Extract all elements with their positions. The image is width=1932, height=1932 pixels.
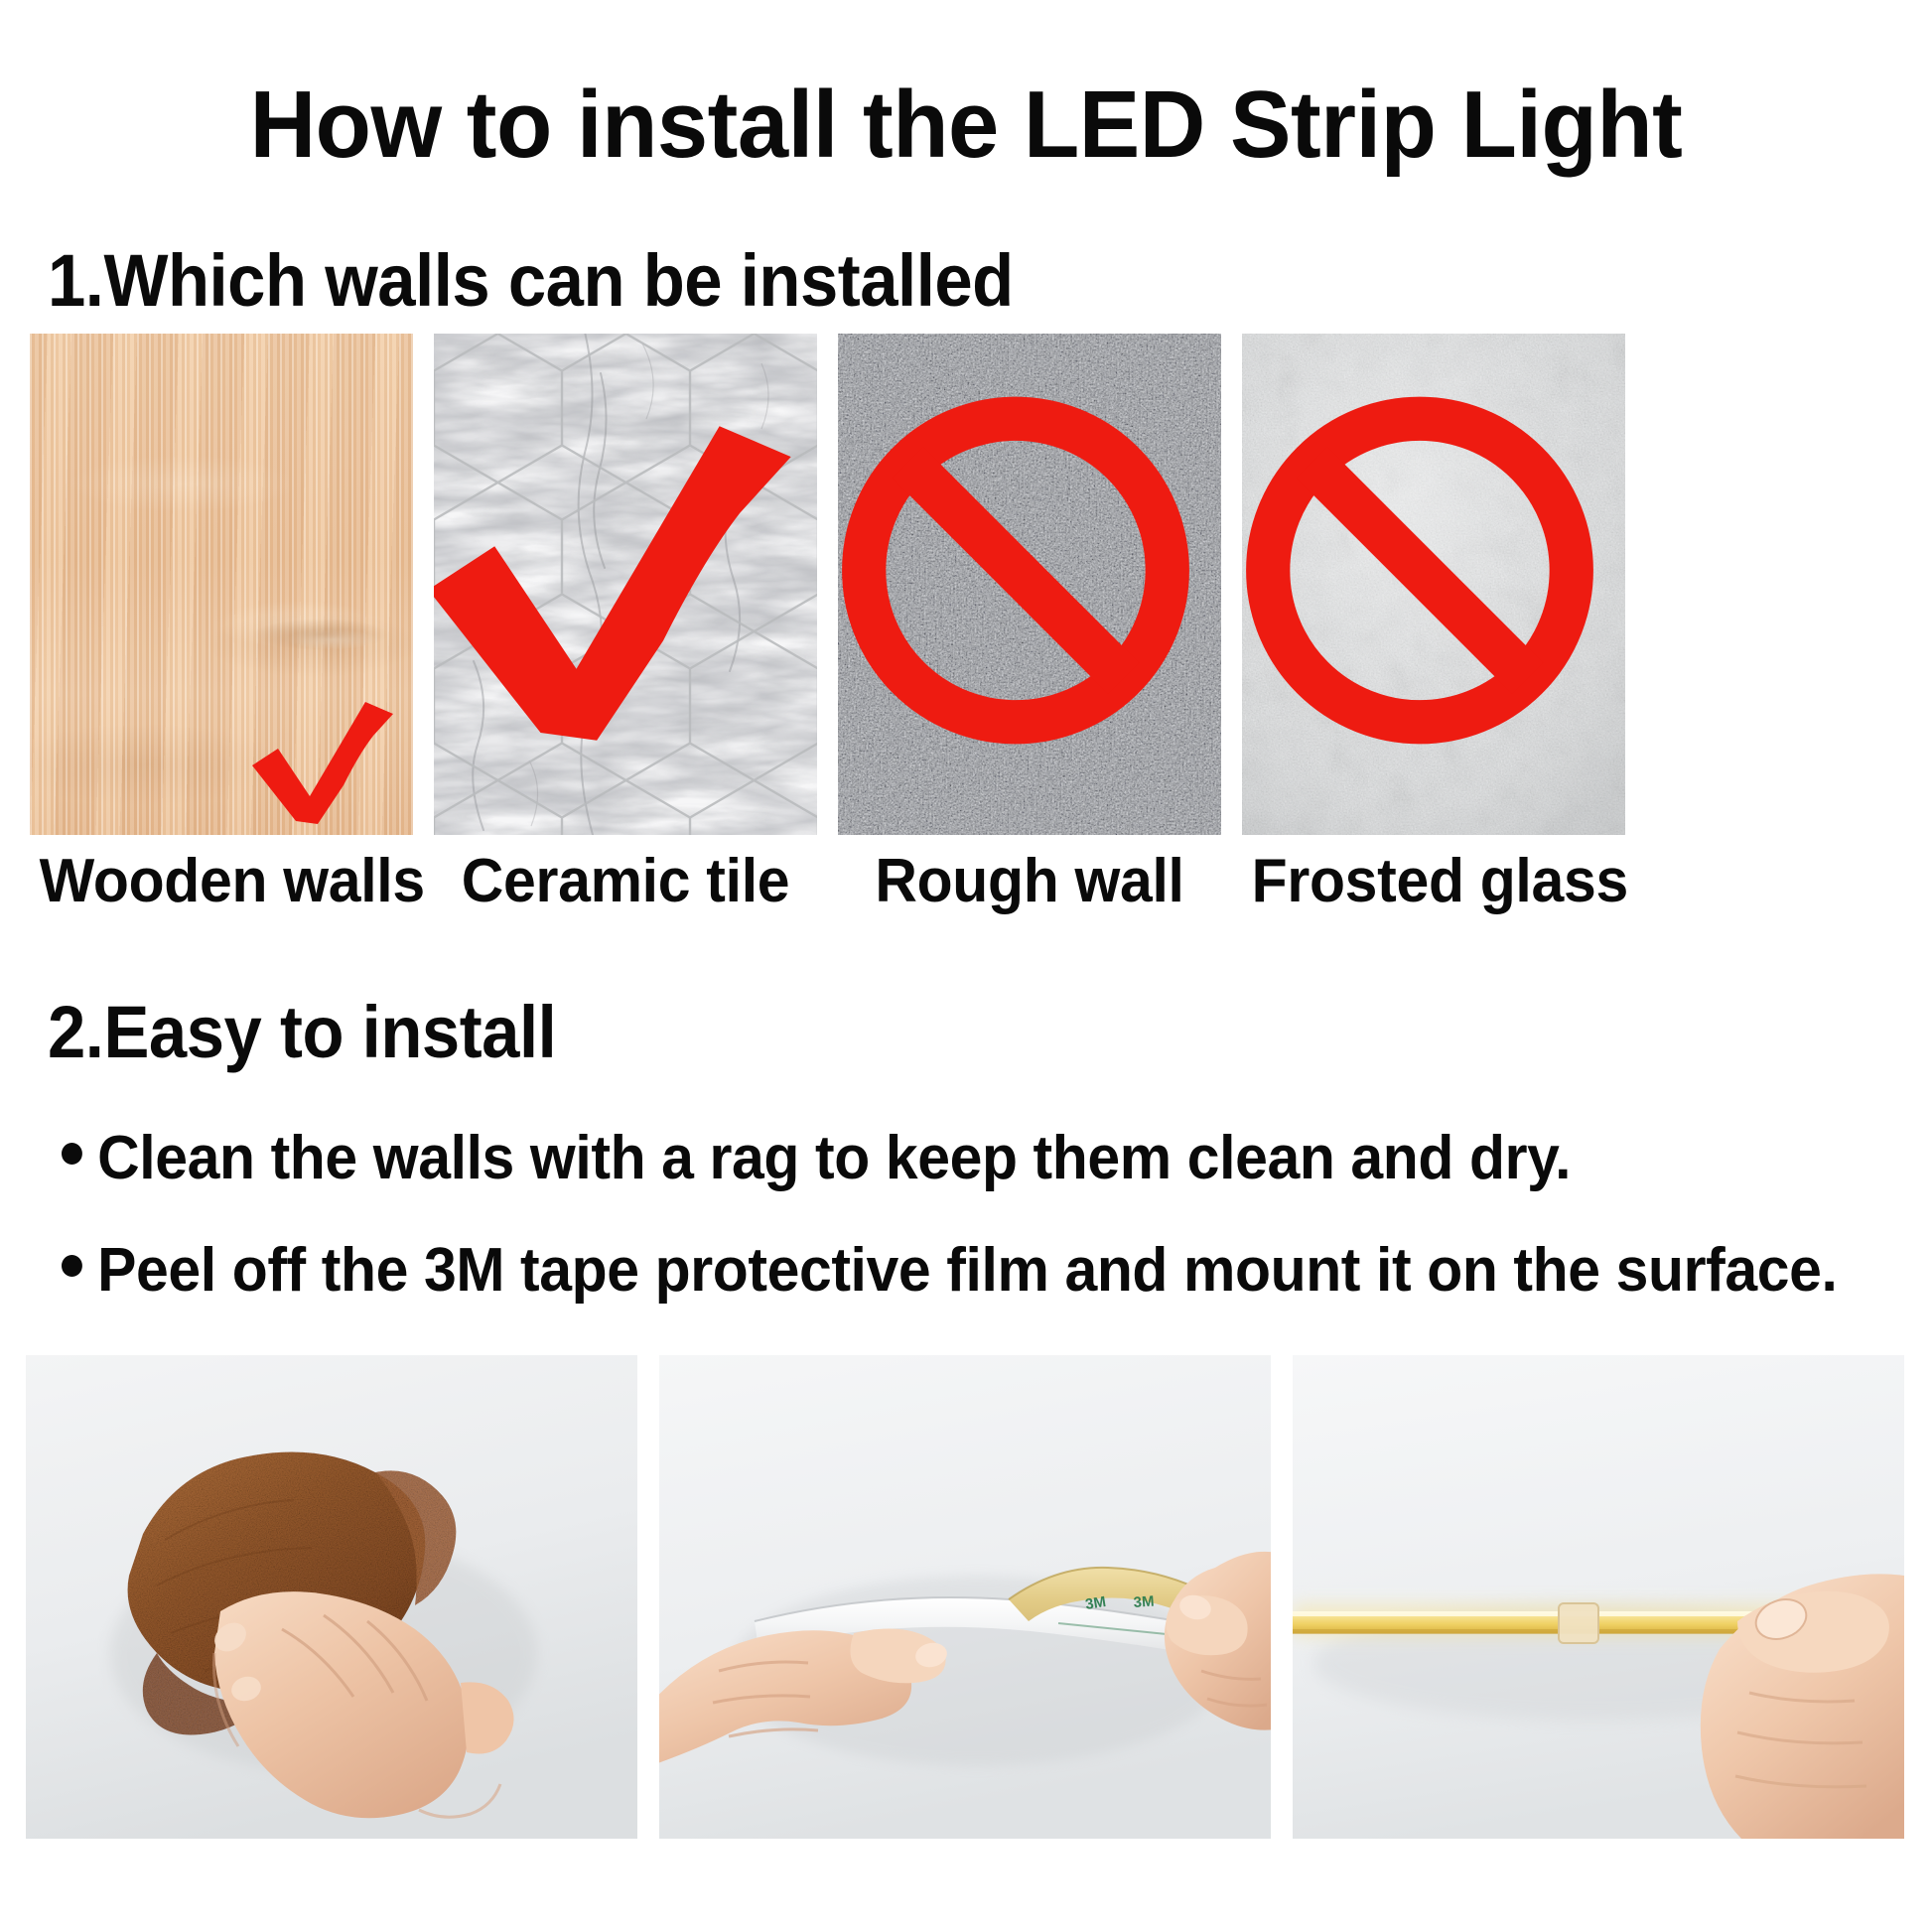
surface-tile-ceramic-tile [434,334,817,835]
step-1: Clean the walls with a rag to keep them … [62,1123,1571,1194]
red-prohibition-icon [838,334,1207,821]
tape-brand-text: 3M [1084,1593,1107,1613]
section-1-heading: 1.Which walls can be installed [48,241,1014,321]
red-check-icon [434,334,801,825]
photo-wiping-wall [26,1355,637,1839]
bullet-dot-icon [62,1143,82,1165]
hand-wiping-with-cloth-illustration [26,1355,637,1839]
bullet-dot-icon [62,1255,82,1277]
surface-label-row: Wooden walls Ceramic tile Rough wall Fro… [30,845,1902,918]
page-title: How to install the LED Strip Light [39,73,1893,177]
step-2: Peel off the 3M tape protective film and… [62,1235,1837,1307]
surface-tile-row [30,334,1902,835]
surface-label-wooden-walls: Wooden walls [40,845,404,918]
surface-label-frosted-glass: Frosted glass [1252,845,1616,918]
hands-peeling-3m-tape-illustration: 3M 3M 3M [659,1355,1271,1839]
photo-pressing-strip [1293,1355,1904,1839]
red-prohibition-icon [1242,334,1611,821]
instruction-photo-row: 3M 3M 3M [26,1355,1906,1839]
surface-tile-wooden-walls [30,334,413,835]
surface-tile-frosted-glass [1242,334,1625,835]
step-2-text: Peel off the 3M tape protective film and… [97,1235,1837,1307]
photo-peeling-tape: 3M 3M 3M [659,1355,1271,1839]
finger-pressing-led-strip-illustration [1293,1355,1904,1839]
step-1-text: Clean the walls with a rag to keep them … [97,1123,1571,1194]
infographic-page: How to install the LED Strip Light 1.Whi… [0,0,1932,1932]
surface-label-rough-wall: Rough wall [848,845,1212,918]
surface-tile-rough-wall [838,334,1221,835]
surface-label-ceramic-tile: Ceramic tile [444,845,808,918]
red-check-icon [248,694,397,825]
section-2-heading: 2.Easy to install [48,993,556,1072]
tape-brand-text: 3M [1133,1593,1155,1611]
